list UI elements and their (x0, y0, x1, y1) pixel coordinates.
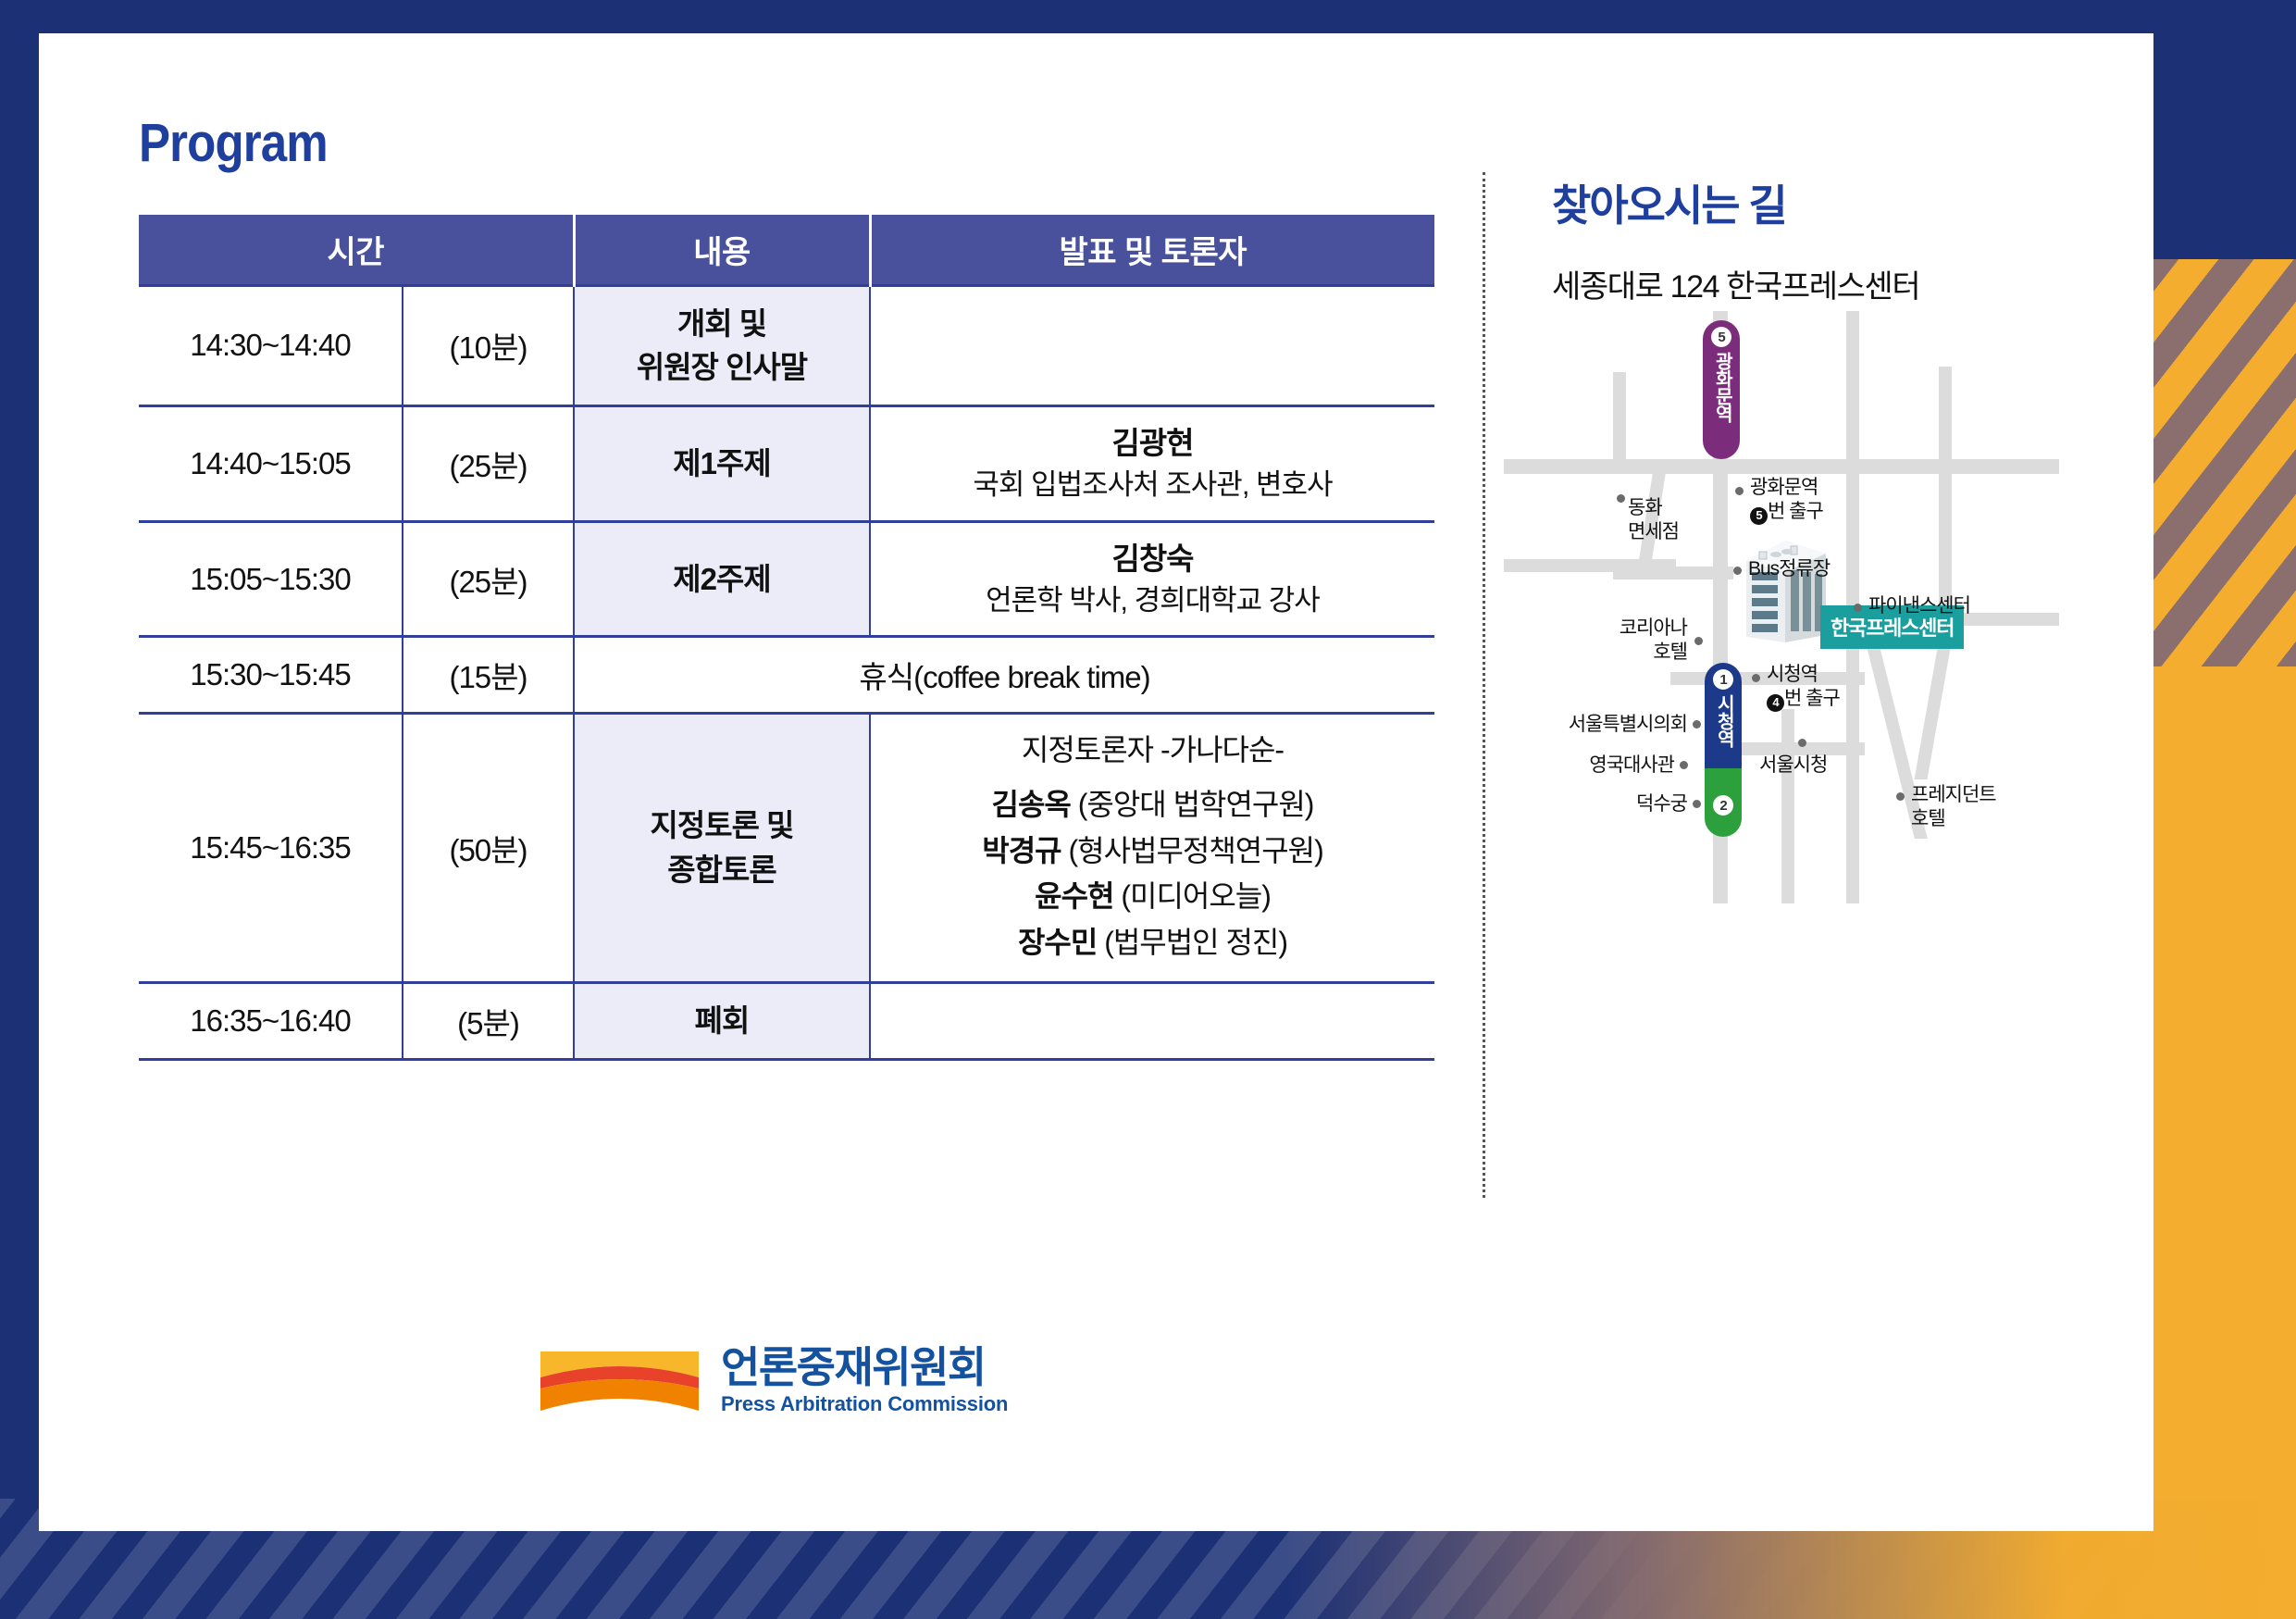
road-vertical-0 (1613, 372, 1626, 474)
arc-logo-icon (539, 1346, 701, 1414)
directions-title: 찾아오시는 길 (1552, 172, 2153, 233)
poi-gwanghwamun-exit: 광화문역 5번 출구 (1750, 476, 1823, 525)
cell-duration: (10분) (403, 285, 574, 406)
table-row: 15:30~15:45 (15분) 휴식(coffee break time) (139, 637, 1434, 714)
exit-suffix: 번 출구 (1784, 688, 1840, 709)
column-header-content: 내용 (574, 215, 870, 285)
panelist-name: 윤수현 (1035, 879, 1113, 913)
cell-duration: (5분) (403, 982, 574, 1059)
logo-text: 언론중재위원회 Press Arbitration Commission (721, 1346, 1008, 1414)
cell-time: 15:30~15:45 (139, 637, 403, 714)
poi-dot-seoul-city-hall (1798, 739, 1806, 747)
venue-address: 세종대로 124 한국프레스센터 (1552, 261, 2153, 306)
cell-panelists: 지정토론자 -가나다순- 김송옥 (중앙대 법학연구원) 박경규 (형사법무정책… (870, 714, 1434, 982)
poi-dot-finance-center (1854, 604, 1862, 612)
poi-deoksugung: 덕수궁 (1585, 792, 1687, 816)
poi-dot-bus-stop (1733, 567, 1742, 575)
road-vertical-3 (1939, 367, 1952, 459)
panelist-affiliation: (법무법인 정진) (1104, 926, 1287, 959)
poi-dot-koreana-hotel (1694, 637, 1703, 645)
table-row: 15:05~15:30 (25분) 제2주제 김창숙 언론학 박사, 경희대학교… (139, 521, 1434, 637)
cell-topic: 제2주제 (574, 521, 870, 637)
panelist-row: 윤수현 (미디어오늘) (876, 874, 1429, 920)
poi-dot-president-hotel (1896, 792, 1905, 801)
panelist-row: 김송옥 (중앙대 법학연구원) (876, 782, 1429, 828)
cell-time: 14:40~15:05 (139, 406, 403, 522)
program-table: 시간 내용 발표 및 토론자 14:30~14:40 (10분) 개회 및위원장… (139, 215, 1434, 1061)
table-row: 14:40~15:05 (25분) 제1주제 김광현 국회 입법조사처 조사관,… (139, 406, 1434, 522)
poi-dot-gwanghwamun-exit (1735, 487, 1744, 495)
cell-topic: 제1주제 (574, 406, 870, 522)
panelist-name: 김송옥 (992, 788, 1071, 821)
poi-finance-center: 파이낸스센터 (1868, 594, 1970, 618)
panelist-name: 박경규 (982, 834, 1061, 867)
cell-speaker (870, 982, 1434, 1059)
location-map: 5 광화문역 1 시청역 2 (1504, 311, 2059, 903)
cell-duration: (25분) (403, 521, 574, 637)
panel-heading: 지정토론자 -가나다순- (876, 729, 1429, 771)
column-header-speakers: 발표 및 토론자 (870, 215, 1434, 285)
poi-president-hotel: 프레지던트호텔 (1911, 783, 1996, 832)
poi-city-hall-exit: 시청역 4번 출구 (1767, 663, 1840, 712)
poi-dot-city-hall-exit (1752, 674, 1760, 682)
cell-time: 14:30~14:40 (139, 285, 403, 406)
line-badge-5: 5 (1711, 327, 1731, 347)
column-header-time: 시간 (139, 215, 574, 285)
panelist-affiliation: (중앙대 법학연구원) (1078, 788, 1314, 821)
poi-label: 시청역 (1767, 664, 1818, 685)
cell-time: 15:45~16:35 (139, 714, 403, 982)
road-vertical-5 (1781, 709, 1794, 903)
road-horizontal-3 (1613, 567, 1733, 579)
station-gwanghwamun[interactable]: 5 광화문역 (1703, 320, 1740, 459)
poi-koreana-hotel: 코리아나호텔 (1567, 616, 1687, 666)
page-card: Program 시간 내용 발표 및 토론자 14:30~14:40 (10분)… (39, 33, 2153, 1531)
logo-english-name: Press Arbitration Commission (721, 1394, 1008, 1414)
panelist-name: 장수민 (1018, 926, 1097, 959)
table-row: 15:45~16:35 (50분) 지정토론 및종합토론 지정토론자 -가나다순… (139, 714, 1434, 982)
poi-dot-donghwa (1617, 494, 1625, 503)
station-city-hall-line2[interactable]: 2 (1705, 768, 1742, 837)
organization-logo: 언론중재위원회 Press Arbitration Commission (539, 1346, 1008, 1414)
station-name-city-hall: 시청역 (1713, 694, 1733, 747)
cell-time: 15:05~15:30 (139, 521, 403, 637)
cell-speaker: 김창숙 언론학 박사, 경희대학교 강사 (870, 521, 1434, 637)
cell-topic: 폐회 (574, 982, 870, 1059)
cell-speaker (870, 285, 1434, 406)
cell-duration: (25분) (403, 406, 574, 522)
panelist-row: 박경규 (형사법무정책연구원) (876, 828, 1429, 875)
poi-dot-uk-embassy (1680, 761, 1688, 769)
cell-duration: (15분) (403, 637, 574, 714)
poi-dot-seoul-council (1693, 720, 1701, 729)
poi-label: 광화문역 (1750, 477, 1818, 498)
panelist-row: 장수민 (법무법인 정진) (876, 920, 1429, 966)
speaker-affiliation: 언론학 박사, 경희대학교 강사 (876, 580, 1429, 620)
exit-number-badge: 5 (1750, 507, 1768, 525)
cell-topic: 개회 및위원장 인사말 (574, 285, 870, 406)
poi-donghwa-duty-free: 동화면세점 (1628, 496, 1679, 545)
logo-korean-name: 언론중재위원회 (721, 1346, 1008, 1389)
road-diagonal-3 (1915, 641, 1952, 779)
poi-bus-stop: Bus정류장 (1748, 557, 1830, 581)
exit-number-badge: 4 (1767, 694, 1784, 712)
table-row: 14:30~14:40 (10분) 개회 및위원장 인사말 (139, 285, 1434, 406)
poi-uk-embassy: 영국대사관 (1545, 753, 1674, 778)
panelist-affiliation: (형사법무정책연구원) (1068, 834, 1322, 867)
cell-duration: (50분) (403, 714, 574, 982)
line-badge-1: 1 (1713, 669, 1733, 690)
cell-speaker: 김광현 국회 입법조사처 조사관, 변호사 (870, 406, 1434, 522)
exit-suffix: 번 출구 (1768, 501, 1823, 522)
speaker-name: 김광현 (876, 422, 1429, 465)
table-header-row: 시간 내용 발표 및 토론자 (139, 215, 1434, 285)
poi-seoul-city-hall: 서울시청 (1759, 753, 1827, 778)
speaker-name: 김창숙 (876, 538, 1429, 580)
page-title: Program (139, 117, 1322, 170)
table-row: 16:35~16:40 (5분) 폐회 (139, 982, 1434, 1059)
poi-seoul-metropolitan-council: 서울특별시의회 (1532, 713, 1687, 737)
station-city-hall[interactable]: 1 시청역 (1705, 663, 1742, 768)
panelist-affiliation: (미디어오늘) (1121, 879, 1271, 913)
directions-section: 찾아오시는 길 세종대로 124 한국프레스센터 5 광화문역 (1485, 33, 2153, 1531)
line-badge-2: 2 (1713, 795, 1733, 816)
cell-time: 16:35~16:40 (139, 982, 403, 1059)
poi-dot-deoksugung (1693, 800, 1701, 808)
speaker-affiliation: 국회 입법조사처 조사관, 변호사 (876, 465, 1429, 504)
program-section: Program 시간 내용 발표 및 토론자 14:30~14:40 (10분)… (39, 33, 1483, 1531)
cell-topic: 지정토론 및종합토론 (574, 714, 870, 982)
road-horizontal-1 (1504, 459, 2059, 474)
cell-break-label: 휴식(coffee break time) (574, 637, 1434, 714)
station-name-gwanghwamun: 광화문역 (1711, 352, 1731, 422)
